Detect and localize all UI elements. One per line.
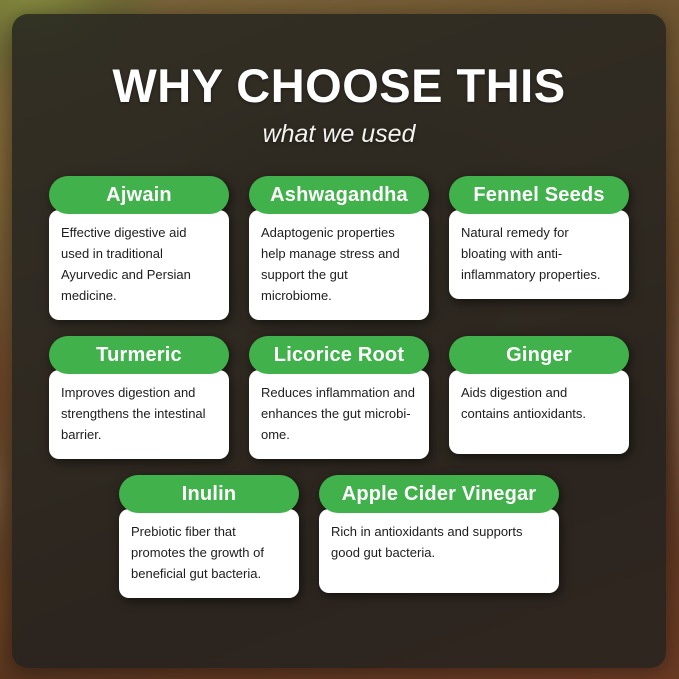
ingredient-card[interactable]: Ginger Aids digestion and contains antio… (449, 336, 629, 459)
page-title: WHY CHOOSE THIS (12, 61, 666, 110)
ingredient-title: Ashwagandha (249, 176, 429, 214)
ingredient-description: Adaptogenic properties help manage stres… (249, 210, 429, 320)
ingredient-title: Ajwain (49, 176, 229, 214)
ingredient-description: Reduces inflammation and enhances the gu… (249, 370, 429, 459)
ingredient-card[interactable]: Licorice Root Reduces inflammation and e… (249, 336, 429, 459)
ingredient-title: Licorice Root (249, 336, 429, 374)
ingredient-title: Apple Cider Vinegar (319, 475, 559, 513)
page-subtitle: what we used (12, 120, 666, 149)
ingredient-card-grid: Ajwain Effective digestive aid used in t… (12, 176, 666, 614)
ingredient-description: Aids digestion and contains antioxidants… (449, 370, 629, 454)
ingredient-card[interactable]: Turmeric Improves digestion and strength… (49, 336, 229, 459)
ingredient-card[interactable]: Apple Cider Vinegar Rich in antioxidants… (319, 475, 559, 598)
ingredient-description: Improves digestion and strengthens the i… (49, 370, 229, 459)
ingredient-title: Turmeric (49, 336, 229, 374)
infographic-stage: WHY CHOOSE THIS what we used Ajwain Effe… (0, 0, 679, 679)
card-row: Ajwain Effective digestive aid used in t… (12, 176, 666, 320)
ingredient-description: Natural remedy for bloating with anti-in… (449, 210, 629, 299)
ingredient-title: Fennel Seeds (449, 176, 629, 214)
ingredient-title: Ginger (449, 336, 629, 374)
ingredient-description: Effective digestive aid used in traditio… (49, 210, 229, 320)
ingredient-description: Prebiotic fiber that promotes the growth… (119, 509, 299, 598)
card-row: Turmeric Improves digestion and strength… (12, 336, 666, 459)
ingredient-card[interactable]: Fennel Seeds Natural remedy for bloating… (449, 176, 629, 320)
ingredient-title: Inulin (119, 475, 299, 513)
ingredient-card[interactable]: Ajwain Effective digestive aid used in t… (49, 176, 229, 320)
ingredient-card[interactable]: Inulin Prebiotic fiber that promotes the… (119, 475, 299, 598)
dark-overlay-panel: WHY CHOOSE THIS what we used Ajwain Effe… (12, 14, 666, 668)
ingredient-card[interactable]: Ashwagandha Adaptogenic properties help … (249, 176, 429, 320)
card-row: Inulin Prebiotic fiber that promotes the… (12, 475, 666, 598)
ingredient-description: Rich in antioxidants and supports good g… (319, 509, 559, 593)
